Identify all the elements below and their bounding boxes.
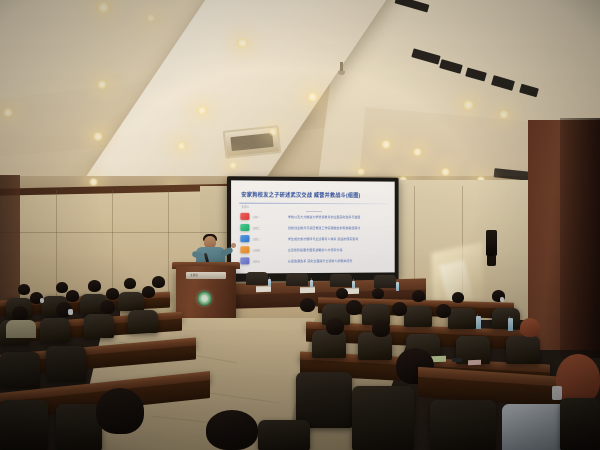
slide-icon-orange [240, 246, 249, 254]
seat [128, 310, 158, 333]
audience-head-foreground [206, 410, 258, 450]
audience-head [66, 290, 79, 302]
ceiling-downlight [92, 132, 104, 141]
seat-foreground [258, 420, 310, 450]
name-card [300, 287, 315, 293]
presenter-hand-right [231, 243, 236, 248]
slide-row: 议题二 [240, 223, 260, 232]
projection-screen: 安家狗校友之子研述武汉交战 威营并救战斗(组图) 主讲人 议题一 议题二 议题三… [231, 180, 395, 273]
wall-column-left [0, 175, 20, 315]
audience-head [12, 306, 28, 321]
audience-head [300, 298, 315, 312]
ceiling-downlight [196, 106, 208, 115]
ceiling-downlight [146, 14, 156, 22]
audience-head-foreground [556, 354, 600, 404]
ceiling-downlight [228, 162, 238, 169]
audience-head [372, 320, 390, 337]
seat [84, 314, 114, 338]
audience-head [152, 276, 165, 288]
seat-foreground [46, 346, 86, 382]
slide-row: 议题四 [240, 245, 260, 254]
slide-row-text: 学生成长成才规律与全过程育人体系 建设的现实思考 [288, 237, 358, 241]
audience-head [346, 300, 362, 315]
audience-head [520, 318, 540, 337]
head-table-chair [330, 274, 352, 287]
sprinkler-icon [340, 62, 343, 72]
audience-shoulders [6, 320, 36, 338]
ceiling-downlight [2, 108, 14, 117]
water-bottle [396, 282, 399, 291]
water-bottle [508, 318, 513, 331]
projection-screen-frame: 安家狗校友之子研述武汉交战 威营并救战斗(组图) 主讲人 议题一 议题二 议题三… [227, 176, 399, 282]
ceiling-downlight [96, 80, 108, 89]
head-table-chair [374, 275, 396, 288]
audience-head [436, 304, 451, 318]
ceiling-downlight [380, 140, 392, 149]
face-mask [40, 298, 44, 303]
slide-icon-purple [240, 257, 249, 265]
slide-icon-label: 议题五 [253, 259, 261, 263]
slide-row-text: 立足新阶段服务国家战略的人才培养方案 [288, 248, 343, 252]
seat-foreground [430, 400, 496, 450]
slide-icon-green [240, 224, 249, 232]
head-table-chair [286, 273, 308, 286]
audience-head [106, 288, 119, 300]
wall-seam [0, 232, 250, 233]
ceiling-downlight [462, 100, 475, 110]
face-mask [500, 297, 504, 302]
water-bottle [476, 316, 481, 329]
audience-head [88, 280, 101, 292]
podium-nameplate-text: 主讲席 [190, 273, 198, 277]
slide-title-rule [239, 203, 387, 205]
audience-head [18, 284, 30, 295]
ceiling-downlight [176, 142, 187, 150]
slide-subtitle: 主讲人 [241, 205, 249, 209]
name-card [256, 286, 271, 292]
audience-head [56, 282, 68, 293]
seat [506, 336, 540, 364]
paper-sheet [468, 360, 481, 365]
ceiling-downlight [96, 2, 111, 13]
slide-row-text: 从思政课改革 深化全面提升立德树人的根本任务 [288, 259, 353, 263]
slide-row-text: 学校以及大力推进大学智慧教育的全面深化改革与发展 [288, 215, 361, 219]
seat [118, 292, 144, 311]
seat-foreground [560, 398, 600, 450]
audience-head [142, 286, 155, 298]
audience-head [100, 300, 115, 314]
audience-head [412, 290, 425, 302]
seat [404, 306, 432, 327]
audience-head [124, 278, 136, 289]
lecture-hall-photo: 安家狗校友之子研述武汉交战 威营并救战斗(组图) 主讲人 议题一 议题二 议题三… [0, 0, 600, 450]
slide-row-text: 创新创业教育与基层党建工作实践融合的有效路径探讨 [288, 226, 361, 230]
seat-foreground [0, 352, 40, 388]
slide-icon-label: 议题四 [253, 248, 261, 252]
slide-row: 议题三 [240, 234, 260, 243]
ceiling-downlight [88, 178, 99, 186]
ceiling-downlight [236, 38, 249, 48]
seat-foreground [0, 400, 48, 450]
slide-icon-red [240, 213, 249, 221]
seat [40, 318, 70, 342]
wall-column-right-shadow [560, 118, 600, 358]
audience-head [372, 288, 384, 299]
slide-icon-blue [240, 235, 249, 243]
seat [448, 308, 476, 329]
slide-icon-label: 议题一 [253, 214, 261, 218]
wall-speaker-base [487, 256, 496, 266]
seat [358, 332, 392, 360]
ceiling-downlight [356, 168, 366, 176]
slide-title: 安家狗校友之子研述武汉交战 威营并救战斗(组图) [241, 191, 389, 200]
face-mask [552, 386, 562, 400]
audience-head [392, 302, 407, 316]
audience-head [336, 288, 348, 299]
ceiling-downlight [498, 110, 510, 119]
ceiling-downlight [268, 128, 278, 136]
seat [492, 308, 520, 329]
face-mask [68, 309, 73, 315]
slide-row: 议题五 [240, 256, 260, 265]
slide-row: 议题一 [240, 212, 260, 221]
audience-head [452, 292, 464, 303]
slide-connector [306, 211, 322, 212]
audience-head-foreground [96, 388, 144, 434]
head-table-chair [246, 272, 268, 285]
ceiling-downlight [306, 92, 319, 102]
wall-speaker-icon [486, 230, 497, 256]
seat-foreground [352, 386, 414, 450]
slide-icon-label: 议题三 [253, 237, 261, 241]
ceiling-downlight [412, 148, 423, 156]
seat [312, 330, 346, 358]
phone [452, 358, 462, 362]
wall-seam [168, 190, 169, 306]
ceiling-downlight [440, 168, 451, 176]
audience-head [326, 318, 344, 335]
slide-icon-label: 议题二 [253, 225, 261, 229]
university-crest-icon [197, 291, 212, 306]
